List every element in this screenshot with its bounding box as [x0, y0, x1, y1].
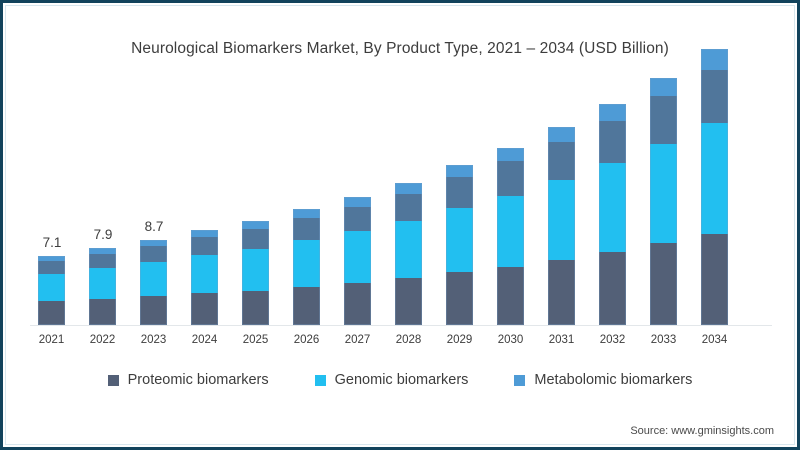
stacked-bar[interactable]: [38, 256, 65, 325]
bar-segment-overlay: [344, 207, 371, 231]
bar-segment-overlay: [497, 161, 524, 196]
bar-segment-proteomic[interactable]: [191, 293, 218, 325]
source-attribution: Source: www.gminsights.com: [630, 425, 774, 437]
bar-segment-proteomic[interactable]: [548, 260, 575, 325]
chart-title: Neurological Biomarkers Market, By Produ…: [0, 40, 800, 58]
bar-segment-overlay: [89, 254, 116, 268]
x-tick-2032: 2032: [588, 334, 638, 346]
bar-segment-genomic[interactable]: [293, 240, 320, 287]
bar-segment-overlay: [242, 229, 269, 249]
x-tick-2030: 2030: [486, 334, 536, 346]
bar-segment-proteomic[interactable]: [293, 287, 320, 325]
bar-segment-genomic[interactable]: [497, 196, 524, 267]
stacked-bar[interactable]: [242, 221, 269, 325]
bar-segment-genomic[interactable]: [344, 231, 371, 283]
stacked-bar[interactable]: [548, 127, 575, 325]
legend-item-genomic[interactable]: Genomic biomarkers: [315, 372, 469, 388]
bar-value-label-2023: 8.7: [124, 219, 184, 234]
legend-label: Genomic biomarkers: [335, 372, 469, 388]
legend-swatch-icon: [315, 375, 326, 386]
bar-segment-genomic[interactable]: [38, 274, 65, 301]
bar-segment-genomic[interactable]: [242, 249, 269, 291]
bar-segment-overlay: [599, 121, 626, 163]
stacked-bar[interactable]: [701, 49, 728, 325]
bar-segment-overlay: [191, 237, 218, 255]
stacked-bar[interactable]: [89, 248, 116, 325]
x-tick-2031: 2031: [537, 334, 587, 346]
plot-area: 7.17.98.7: [30, 80, 770, 325]
bar-segment-proteomic[interactable]: [395, 278, 422, 325]
bar-segment-proteomic[interactable]: [38, 301, 65, 325]
legend-label: Proteomic biomarkers: [128, 372, 269, 388]
stacked-bar[interactable]: [293, 209, 320, 325]
bar-segment-overlay: [701, 70, 728, 123]
x-tick-2033: 2033: [639, 334, 689, 346]
x-tick-2034: 2034: [690, 334, 740, 346]
bar-segment-proteomic[interactable]: [242, 291, 269, 325]
bar-segment-proteomic[interactable]: [497, 267, 524, 325]
x-tick-2021: 2021: [27, 334, 77, 346]
bar-segment-proteomic[interactable]: [650, 243, 677, 325]
stacked-bar[interactable]: [344, 197, 371, 325]
stacked-bar[interactable]: [599, 104, 626, 325]
bar-segment-overlay: [293, 218, 320, 240]
bar-segment-genomic[interactable]: [650, 144, 677, 243]
bar-segment-overlay: [38, 261, 65, 274]
bar-segment-proteomic[interactable]: [701, 234, 728, 325]
bar-segment-proteomic[interactable]: [446, 272, 473, 325]
legend-swatch-icon: [514, 375, 525, 386]
bar-segment-genomic[interactable]: [446, 208, 473, 272]
bar-segment-genomic[interactable]: [191, 255, 218, 293]
stacked-bar[interactable]: [191, 230, 218, 325]
bar-segment-proteomic[interactable]: [344, 283, 371, 325]
x-axis-tick-labels: 2021202220232024202520262027202820292030…: [30, 334, 772, 354]
bar-segment-genomic[interactable]: [701, 123, 728, 234]
legend-swatch-icon: [108, 375, 119, 386]
bar-segment-overlay: [446, 177, 473, 208]
stacked-bar[interactable]: [140, 240, 167, 325]
bar-segment-genomic[interactable]: [599, 163, 626, 252]
legend-label: Metabolomic biomarkers: [534, 372, 692, 388]
chart-legend: Proteomic biomarkersGenomic biomarkersMe…: [0, 372, 800, 388]
x-axis-line: [30, 325, 772, 326]
bar-segment-proteomic[interactable]: [89, 299, 116, 325]
x-tick-2025: 2025: [231, 334, 281, 346]
stacked-bar[interactable]: [446, 165, 473, 325]
x-tick-2027: 2027: [333, 334, 383, 346]
bar-segment-proteomic[interactable]: [140, 296, 167, 325]
x-tick-2026: 2026: [282, 334, 332, 346]
legend-item-proteomic[interactable]: Proteomic biomarkers: [108, 372, 269, 388]
x-tick-2023: 2023: [129, 334, 179, 346]
bar-segment-overlay: [395, 194, 422, 221]
legend-item-metabolomic[interactable]: Metabolomic biomarkers: [514, 372, 692, 388]
bar-segment-overlay: [140, 246, 167, 262]
x-tick-2029: 2029: [435, 334, 485, 346]
x-tick-2028: 2028: [384, 334, 434, 346]
bar-segment-overlay: [650, 96, 677, 144]
bar-segment-genomic[interactable]: [548, 180, 575, 260]
bar-segment-genomic[interactable]: [140, 262, 167, 296]
stacked-bar[interactable]: [395, 183, 422, 325]
bar-segment-genomic[interactable]: [89, 268, 116, 299]
chart-screenshot: Neurological Biomarkers Market, By Produ…: [0, 0, 800, 450]
x-tick-2024: 2024: [180, 334, 230, 346]
x-tick-2022: 2022: [78, 334, 128, 346]
stacked-bar[interactable]: [497, 148, 524, 325]
bar-segment-overlay: [548, 142, 575, 180]
stacked-bar[interactable]: [650, 78, 677, 325]
bar-segment-proteomic[interactable]: [599, 252, 626, 325]
bar-segment-genomic[interactable]: [395, 221, 422, 278]
